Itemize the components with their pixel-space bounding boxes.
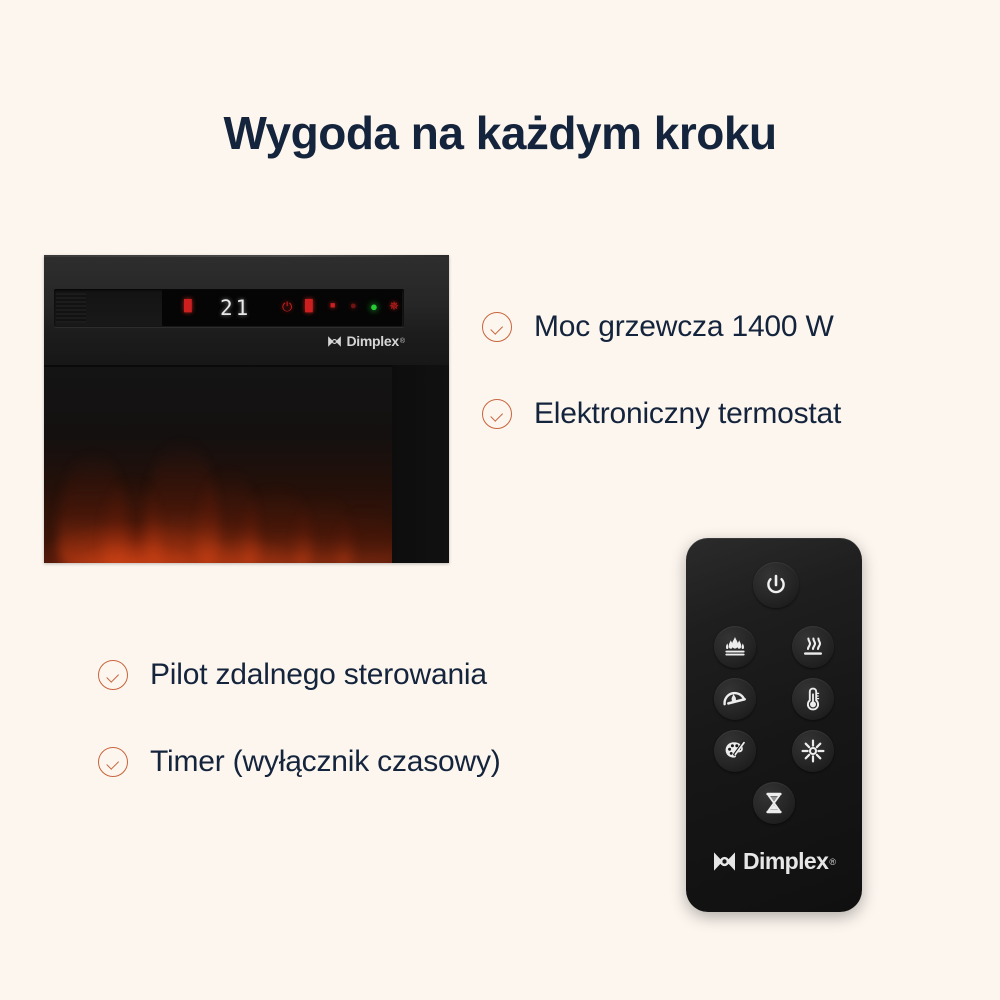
fireplace-flame-display (44, 367, 392, 563)
dimplex-logo-mark (327, 335, 342, 348)
fireplace-brand-logo: Dimplex ® (44, 333, 449, 349)
fireplace-firebox (44, 365, 449, 563)
remote-brand-name: Dimplex (743, 848, 828, 875)
feature-label: Moc grzewcza 1400 W (534, 310, 834, 344)
thermostat-button[interactable] (792, 678, 834, 720)
fireplace-brand-trademark: ® (400, 338, 405, 345)
promo-page: Wygoda na każdym kroku █ 21 ⏻ (0, 0, 1000, 1000)
fireplace-brand-name: Dimplex (346, 333, 398, 349)
dimplex-logo-mark (712, 851, 737, 872)
feature-label: Elektroniczny termostat (534, 397, 841, 431)
power-icon (764, 573, 788, 597)
feature-label: Pilot zdalnego sterowania (150, 658, 487, 692)
remote-control: Dimplex ® (686, 538, 862, 912)
feature-item: Elektroniczny termostat (482, 397, 982, 431)
fireplace-top-bezel: █ 21 ⏻ █ ■ ● ● ✵ Dimplex ® (44, 255, 449, 365)
heater-icon (801, 636, 825, 658)
hourglass-icon (763, 791, 785, 815)
check-circle-icon (98, 660, 128, 690)
feature-label: Timer (wyłącznik czasowy) (150, 745, 501, 779)
fireplace-led-display: █ 21 ⏻ █ ■ ● ● ✵ (162, 290, 402, 326)
display-temperature: 21 (220, 296, 251, 320)
fireplace-control-recess: █ 21 ⏻ █ ■ ● ● ✵ (54, 289, 404, 327)
power-button[interactable] (753, 562, 799, 608)
flame-speed-indicator-icon: ● (350, 301, 357, 312)
brightness-button[interactable] (792, 730, 834, 772)
brightness-indicator-icon: ✵ (389, 300, 399, 312)
flame-button[interactable] (714, 626, 756, 668)
fireplace-side-panel (392, 365, 449, 563)
remote-brand-trademark: ® (829, 857, 836, 867)
palette-icon (723, 739, 747, 763)
feature-list-left: Pilot zdalnego sterowania Timer (wyłączn… (98, 658, 658, 779)
check-circle-icon (98, 747, 128, 777)
power-indicator-icon: ⏻ (282, 300, 292, 313)
check-circle-icon (482, 399, 512, 429)
heater-button[interactable] (792, 626, 834, 668)
heater-indicator-icon: █ (305, 301, 313, 312)
feature-item: Pilot zdalnego sterowania (98, 658, 658, 692)
flame-speed-button[interactable] (714, 678, 756, 720)
fireplace-product-image: █ 21 ⏻ █ ■ ● ● ✵ Dimplex ® (44, 255, 449, 563)
page-title: Wygoda na każdym kroku (0, 106, 1000, 160)
flame-color-indicator-icon: ● (370, 300, 378, 313)
flame-icon (723, 636, 747, 658)
gauge-flame-icon (722, 688, 748, 710)
check-circle-icon (482, 312, 512, 342)
sun-icon (801, 739, 825, 763)
flame-indicator-icon: █ (184, 301, 192, 312)
flame-color-button[interactable] (714, 730, 756, 772)
fireplace-vent-grille (56, 293, 86, 323)
thermometer-icon (804, 687, 822, 711)
thermometer-indicator-icon: ■ (330, 301, 335, 310)
feature-list-right: Moc grzewcza 1400 W Elektroniczny termos… (482, 310, 982, 431)
timer-button[interactable] (753, 782, 795, 824)
feature-item: Moc grzewcza 1400 W (482, 310, 982, 344)
remote-brand-logo: Dimplex ® (686, 848, 862, 875)
feature-item: Timer (wyłącznik czasowy) (98, 745, 658, 779)
